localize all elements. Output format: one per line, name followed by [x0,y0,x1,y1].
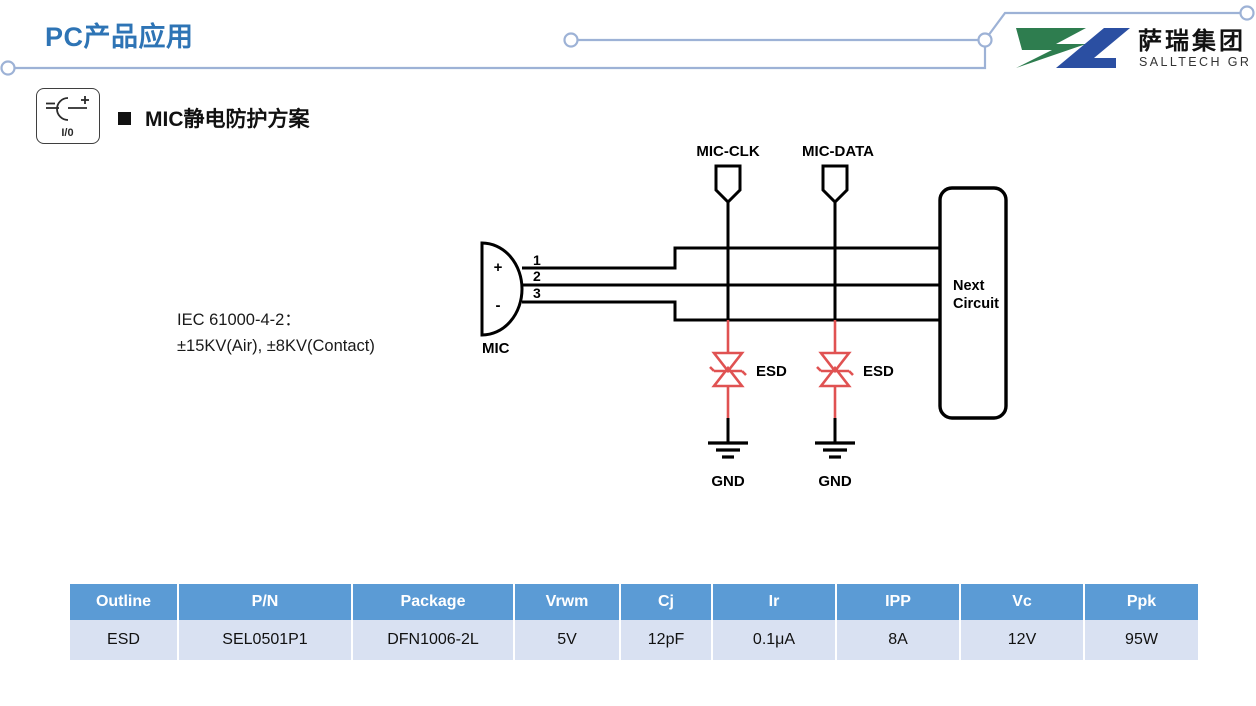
gnd-label-data: GND [818,473,852,490]
table-col-ppk: Ppk [1085,584,1198,620]
esd-diode-data-icon [817,353,853,386]
table-col-cj: Cj [621,584,711,620]
io-icon: I/0 [36,88,100,144]
deco-node-mid [565,34,578,47]
section-heading: MIC静电防护方案 [118,103,310,133]
section-heading-label: MIC静电防护方案 [145,103,310,133]
next-circuit-label-line1: Next [953,278,985,294]
cell-cj: 12pF [621,620,711,660]
io-icon-label: I/0 [61,127,73,139]
connector-minus: - [496,297,501,314]
spec-note-line1: IEC 61000-4-2： [177,308,375,334]
cell-package: DFN1006-2L [353,620,513,660]
gnd-symbol-data-icon [815,443,855,457]
table-col-ir: Ir [713,584,835,620]
circuit-schematic: + - MIC 1 2 3 MIC-CLK M [460,138,1040,508]
next-circuit-label-line2: Circuit [953,296,999,312]
table-col-pn: P/N [179,584,351,620]
deco-node-right [1241,7,1254,20]
mic-connector: + - MIC [482,243,522,357]
table-col-ipp: IPP [837,584,959,620]
cell-vrwm: 5V [515,620,619,660]
spec-note-line2: ±15KV(Air), ±8KV(Contact) [177,334,375,360]
esd-diode-clk-icon [710,353,746,386]
net-label-clk: MIC-CLK [696,143,759,160]
gnd-label-clk: GND [711,473,745,490]
testpoint-clk-icon [716,166,740,202]
table-col-outline: Outline [70,584,177,620]
pin-label-2: 2 [533,268,541,284]
esd-label-data: ESD [863,363,894,380]
company-logo: 萨瑞集团 SALLTECH GROUP [1012,24,1248,72]
slide-canvas: PC产品应用 萨瑞集团 SALLTECH GROUP I/0 MIC静电防护方案 [0,0,1256,706]
logo-name-en: SALLTECH GROUP [1139,55,1248,69]
table-col-vrwm: Vrwm [515,584,619,620]
deco-node-junction [979,34,992,47]
cell-outline: ESD [70,620,177,660]
bullet-square-icon [118,112,131,125]
pin-label-1: 1 [533,252,541,268]
deco-node-left [2,62,15,75]
connector-plus: + [494,259,503,276]
testpoint-data-icon [823,166,847,202]
wire-pin1 [522,248,1005,268]
cell-pn: SEL0501P1 [179,620,351,660]
net-label-data: MIC-DATA [802,143,874,160]
gnd-symbol-clk-icon [708,443,748,457]
cell-vc: 12V [961,620,1083,660]
mic-label: MIC [482,340,510,357]
esd-label-clk: ESD [756,363,787,380]
cell-ipp: 8A [837,620,959,660]
logo-mark-blue-bar [1068,58,1116,68]
table-header-row: Outline P/N Package Vrwm Cj Ir IPP Vc Pp… [70,584,1198,620]
table-col-vc: Vc [961,584,1083,620]
pin-label-3: 3 [533,285,541,301]
page-title: PC产品应用 [45,15,194,54]
logo-name-cn: 萨瑞集团 [1138,27,1246,55]
table-row: ESD SEL0501P1 DFN1006-2L 5V 12pF 0.1μA 8… [70,620,1198,660]
wire-pin3 [522,302,1005,320]
cell-ir: 0.1μA [713,620,835,660]
cell-ppk: 95W [1085,620,1198,660]
spec-note: IEC 61000-4-2： ±15KV(Air), ±8KV(Contact) [177,308,375,359]
table-col-package: Package [353,584,513,620]
spec-table: Outline P/N Package Vrwm Cj Ir IPP Vc Pp… [68,584,1200,660]
